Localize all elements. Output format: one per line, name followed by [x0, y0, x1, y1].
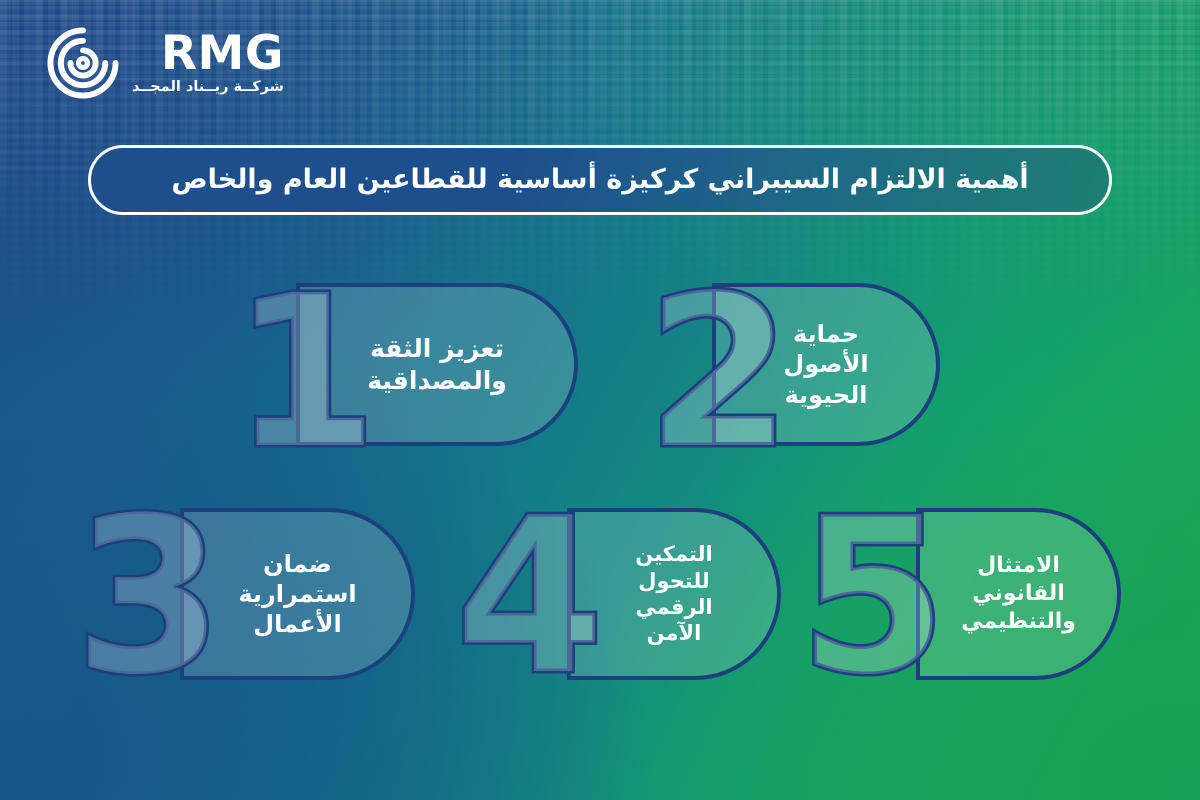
brand-tagline: شركــة ريــناد المجــد	[132, 79, 284, 95]
page-title-banner: أهمية الالتزام السيبراني كركيزة أساسية ل…	[88, 145, 1112, 215]
benefit-card-5: الامتثال القانوني والتنظيمي	[916, 508, 1121, 680]
benefit-card-4: التمكين للتحول الرقمي الآمن	[567, 508, 781, 680]
benefit-card-5-label: الامتثال القانوني والتنظيمي	[945, 552, 1092, 635]
benefit-card-1: تعزيز الثقة والمصداقية	[296, 283, 578, 446]
brand-logo: RMG شركــة ريــناد المجــد	[46, 26, 284, 100]
benefit-card-2-label: حماية الأصول الحيوية	[767, 319, 884, 410]
brand-wordmark: RMG	[161, 31, 284, 76]
benefit-card-2: حماية الأصول الحيوية	[712, 283, 940, 446]
spiral-rings-icon	[46, 26, 120, 100]
brand-text: RMG شركــة ريــناد المجــد	[132, 31, 284, 95]
benefit-card-1-label: تعزيز الثقة والمصداقية	[351, 333, 523, 396]
benefit-card-3: ضمان استمرارية الأعمال	[180, 508, 415, 680]
benefit-card-3-label: ضمان استمرارية الأعمال	[222, 549, 372, 640]
benefit-card-4-label: التمكين للتحول الرقمي الآمن	[619, 541, 728, 647]
page-title: أهمية الالتزام السيبراني كركيزة أساسية ل…	[171, 164, 1028, 196]
infographic-canvas: RMG شركــة ريــناد المجــد أهمية الالتزا…	[0, 0, 1200, 800]
